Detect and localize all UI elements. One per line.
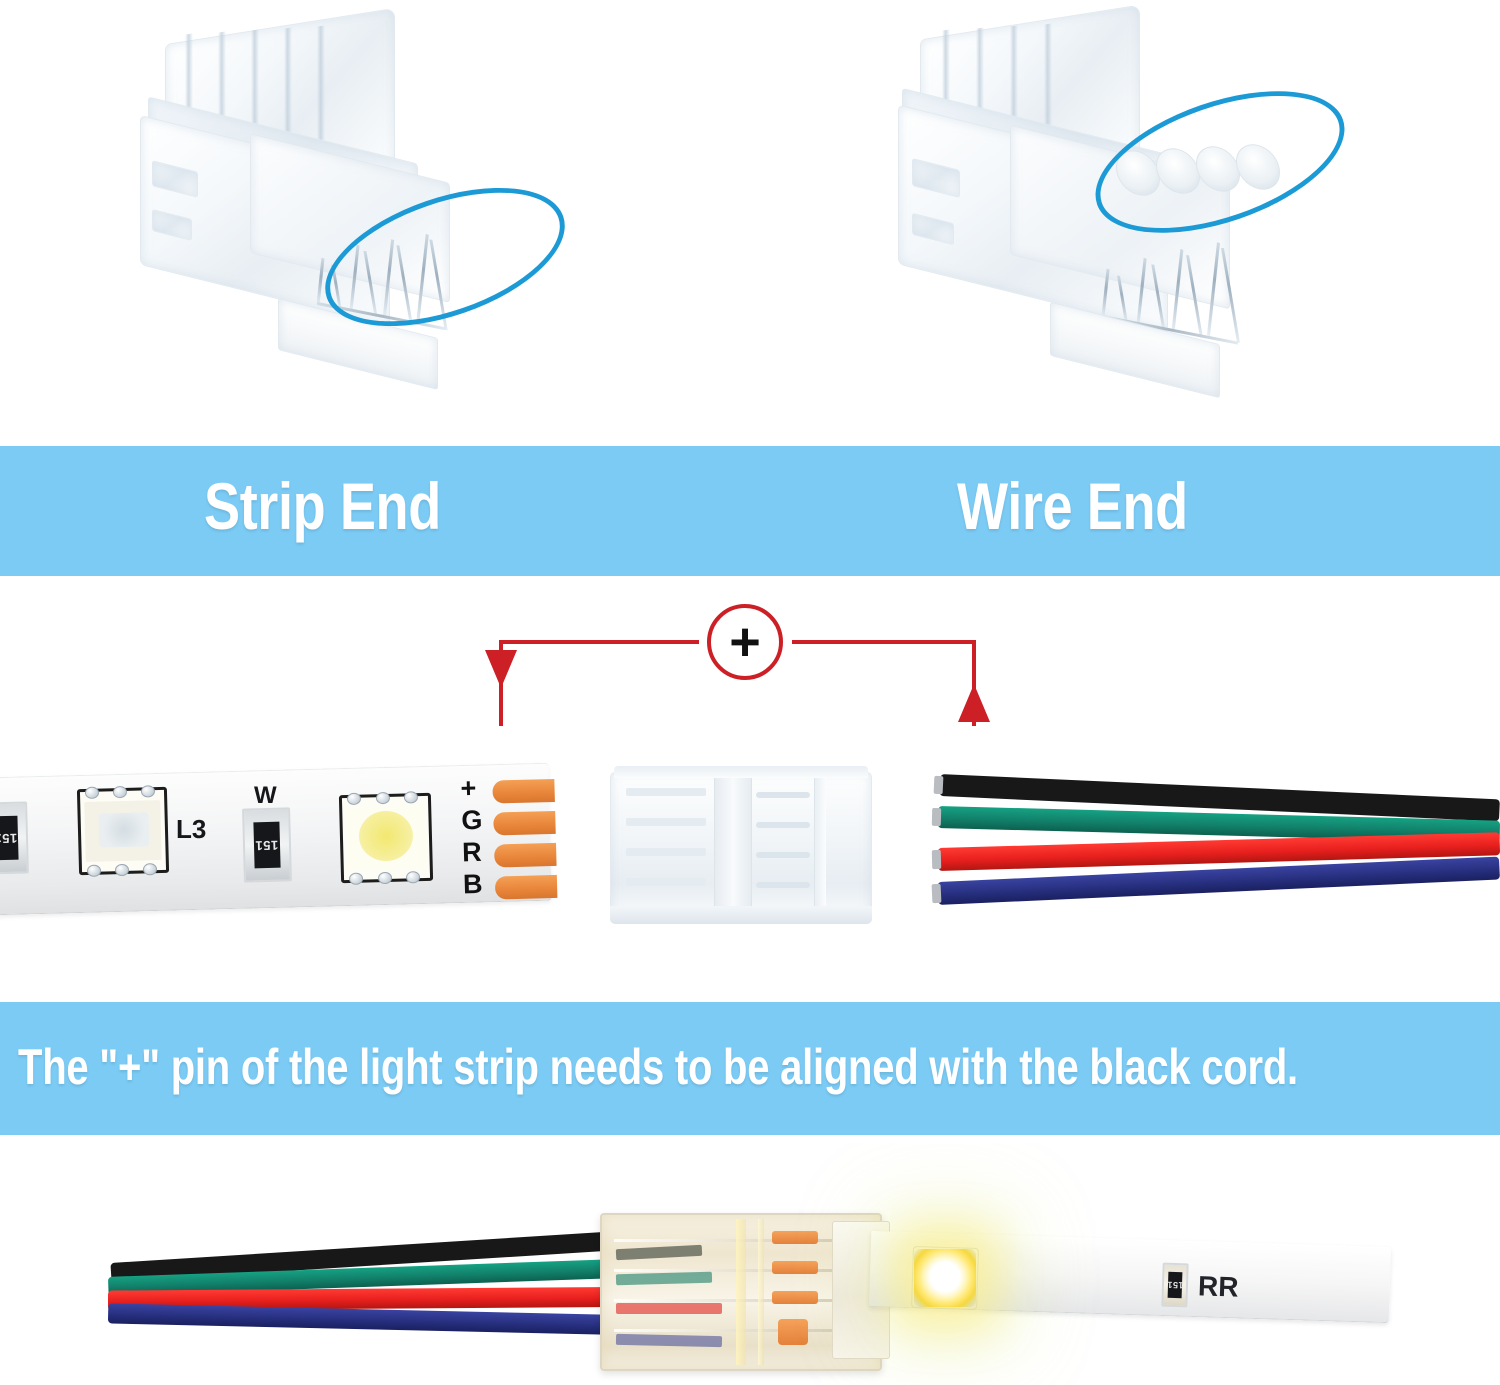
strip-led-white xyxy=(339,793,433,883)
strip-label-w: W xyxy=(254,782,277,810)
plus-glyph: + xyxy=(711,608,779,676)
wire-tip-red xyxy=(932,850,942,869)
strip-end-connector-photo: 10mm xyxy=(130,18,550,418)
contact-pad xyxy=(778,1319,808,1345)
contact-pad xyxy=(772,1291,818,1304)
banner-caption: The "+" pin of the light strip needs to … xyxy=(0,1002,1500,1135)
resistor-code: 151 xyxy=(253,822,280,869)
strip-led-l3 xyxy=(77,787,169,875)
assembled-photo: 151 RR xyxy=(0,1135,1500,1385)
pad-label-g: G xyxy=(461,805,483,837)
strip-resistor: 151 xyxy=(1161,1263,1188,1308)
pad-label-r: R xyxy=(462,837,482,868)
wire-bundle xyxy=(930,762,1500,922)
lit-led xyxy=(914,1249,976,1307)
strip-label-rr: RR xyxy=(1198,1270,1239,1303)
strip-resistor-2: 151 xyxy=(242,807,292,882)
resistor-code: 151 xyxy=(0,816,19,861)
assembled-wire-bundle xyxy=(100,1195,630,1335)
resistor-code: 151 xyxy=(1168,1272,1183,1298)
instruction-image: 10mm xyxy=(0,0,1500,1385)
arrow-down-to-strip xyxy=(485,650,517,688)
caption-text: The "+" pin of the light strip needs to … xyxy=(18,1038,1298,1096)
plus-symbol-circle: + xyxy=(707,604,783,680)
wire-tip-green xyxy=(932,808,941,826)
strip-led-label-l3: L3 xyxy=(176,814,206,845)
contact-pad xyxy=(772,1231,818,1244)
assembled-led-strip: 151 RR xyxy=(870,1231,1400,1361)
pad-b xyxy=(495,875,558,900)
wire-end-connector-photo: 10mm xyxy=(890,18,1330,418)
alignment-diagram: + G 151 L3 W xyxy=(0,576,1500,1002)
diagram-line-horizontal-left xyxy=(499,640,699,644)
pad-r xyxy=(494,843,557,868)
strip-pin-pads: + G R B xyxy=(458,773,572,916)
label-strip-end: Strip End xyxy=(204,468,441,544)
strip-resistor-1: 151 xyxy=(0,801,29,874)
wire-tip-blue xyxy=(932,884,942,903)
wire-tip-black xyxy=(934,776,944,794)
pad-plus xyxy=(492,779,555,804)
diagram-connector xyxy=(610,766,876,926)
pad-label-plus: + xyxy=(460,773,477,804)
contact-pad xyxy=(772,1261,818,1274)
arrow-up-to-wires xyxy=(958,684,990,722)
label-wire-end: Wire End xyxy=(957,468,1188,544)
diagram-line-horizontal-right xyxy=(792,640,976,644)
banner-strip-wire-end: Strip End Wire End xyxy=(0,446,1500,576)
assembled-connector xyxy=(600,1213,890,1373)
pad-label-b: B xyxy=(463,869,483,900)
pad-g xyxy=(493,811,556,836)
led-strip: G 151 L3 W 151 xyxy=(0,758,570,918)
